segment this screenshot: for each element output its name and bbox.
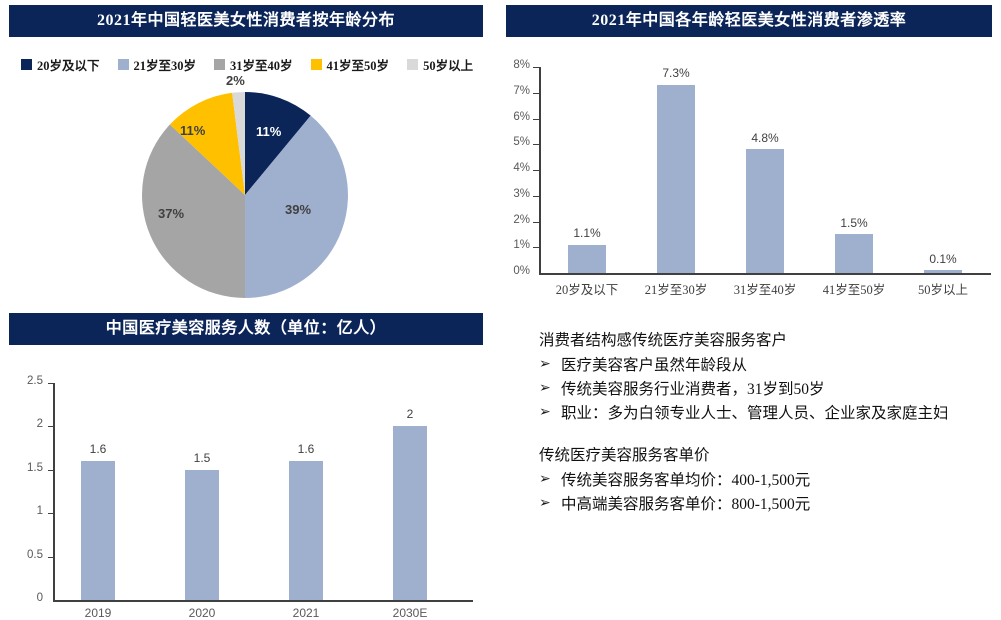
bar-2[interactable] bbox=[746, 149, 784, 273]
bar-0[interactable] bbox=[568, 245, 606, 273]
legend-label: 41岁至50岁 bbox=[327, 55, 390, 74]
y-tick bbox=[48, 470, 55, 471]
bar-value-label-2: 4.8% bbox=[735, 131, 795, 145]
bullet-text: 中高端美容服务客单价：800-1,500元 bbox=[561, 493, 969, 517]
y-tick bbox=[533, 67, 540, 68]
bullet-text: 职业：多为白领专业人士、管理人员、企业家及家庭主妇 bbox=[561, 402, 969, 426]
y-tick-label: 1% bbox=[500, 239, 530, 251]
legend-swatch-icon bbox=[118, 59, 129, 70]
bar-value-label-1: 1.5 bbox=[172, 451, 232, 465]
arrow-bullet-icon: ➢ bbox=[539, 378, 561, 400]
y-tick-label: 6% bbox=[500, 111, 530, 123]
y-tick bbox=[533, 222, 540, 223]
y-tick-label: 3% bbox=[500, 188, 530, 200]
page-title: 2021年中国各年龄轻医美女性消费者渗透率 bbox=[592, 13, 907, 29]
pie-svg bbox=[130, 90, 360, 300]
y-tick-label: 0.5 bbox=[9, 549, 43, 561]
people-bar-chart: 2.5 2 1.5 1 0.5 0 1.6 1.5 1.6 2 2019 202… bbox=[9, 353, 483, 613]
bar-value-label-4: 0.1% bbox=[913, 252, 973, 266]
y-tick bbox=[533, 93, 540, 94]
y-tick-label: 1 bbox=[9, 505, 43, 517]
bar-4[interactable] bbox=[924, 270, 962, 273]
y-tick-label: 8% bbox=[500, 59, 530, 71]
legend-label: 50岁以上 bbox=[423, 55, 473, 74]
bar-value-label-3: 1.5% bbox=[824, 216, 884, 230]
y-tick-label: 7% bbox=[500, 85, 530, 97]
bullet-text: 医疗美容客户虽然年龄段从 bbox=[561, 354, 969, 378]
legend-swatch-icon bbox=[407, 59, 418, 70]
notes-panel: 消费者结构感传统医疗美容服务客户 ➢ 医疗美容客户虽然年龄段从 ➢ 传统美容服务… bbox=[539, 329, 969, 517]
legend-label: 20岁及以下 bbox=[37, 55, 100, 74]
y-tick bbox=[48, 557, 55, 558]
y-axis bbox=[53, 383, 55, 600]
y-tick-label: 0 bbox=[9, 592, 43, 604]
notes-section2-heading: 传统医疗美容服务客单价 bbox=[539, 444, 969, 468]
page-title: 2021年中国轻医美女性消费者按年龄分布 bbox=[97, 13, 395, 29]
panel-age-distribution: 2021年中国轻医美女性消费者按年龄分布 20岁及以下 21岁至30岁 31岁至… bbox=[9, 5, 483, 297]
legend-swatch-icon bbox=[21, 59, 32, 70]
legend-item-2[interactable]: 31岁至40岁 bbox=[214, 55, 293, 74]
x-tick-label-3: 2030E bbox=[370, 606, 450, 620]
legend-swatch-icon bbox=[214, 59, 225, 70]
y-tick bbox=[533, 119, 540, 120]
pie-label-0: 11% bbox=[256, 124, 281, 139]
y-tick-label: 2.5 bbox=[9, 375, 43, 387]
panel-title-medical-beauty-people: 中国医疗美容服务人数（单位：亿人） bbox=[9, 313, 483, 345]
arrow-bullet-icon: ➢ bbox=[539, 469, 561, 491]
penetration-bar-chart: 8% 7% 6% 5% 4% 3% 2% 1% 0% 1.1% 7.3% 4.8… bbox=[506, 45, 992, 297]
x-tick-label-1: 21岁至30岁 bbox=[631, 279, 721, 298]
notes-section1-bullet-0: ➢ 医疗美容客户虽然年龄段从 bbox=[539, 354, 969, 378]
bar-value-label-0: 1.1% bbox=[557, 226, 617, 240]
x-tick-label-0: 2019 bbox=[58, 606, 138, 620]
bar-1[interactable] bbox=[657, 85, 695, 273]
bar-value-label-1: 7.3% bbox=[646, 66, 706, 80]
y-tick bbox=[48, 383, 55, 384]
x-tick-label-1: 2020 bbox=[162, 606, 242, 620]
pie-chart: 11% 39% 37% 11% 2% bbox=[130, 90, 360, 300]
bar-value-label-2: 1.6 bbox=[276, 442, 336, 456]
y-tick bbox=[533, 247, 540, 248]
notes-section2-bullet-0: ➢ 传统美容服务客单均价：400-1,500元 bbox=[539, 469, 969, 493]
x-tick-label-2: 2021 bbox=[266, 606, 346, 620]
arrow-bullet-icon: ➢ bbox=[539, 354, 561, 376]
y-tick bbox=[533, 170, 540, 171]
y-tick-label: 4% bbox=[500, 162, 530, 174]
x-tick-label-4: 50岁以上 bbox=[898, 279, 988, 298]
y-tick bbox=[48, 426, 55, 427]
y-tick bbox=[533, 144, 540, 145]
y-tick-label: 5% bbox=[500, 136, 530, 148]
notes-spacer bbox=[539, 426, 969, 444]
x-tick-label-2: 31岁至40岁 bbox=[720, 279, 810, 298]
notes-section1-bullet-1: ➢ 传统美容服务行业消费者，31岁到50岁 bbox=[539, 378, 969, 402]
y-tick-label: 2 bbox=[9, 418, 43, 430]
x-axis bbox=[539, 273, 991, 275]
bar-3[interactable] bbox=[835, 234, 873, 273]
y-tick-label: 1.5 bbox=[9, 462, 43, 474]
x-axis bbox=[53, 600, 473, 602]
bar-3[interactable] bbox=[393, 426, 427, 600]
arrow-bullet-icon: ➢ bbox=[539, 402, 561, 424]
panel-penetration-rate: 2021年中国各年龄轻医美女性消费者渗透率 8% 7% 6% 5% 4% 3% … bbox=[506, 5, 992, 297]
pie-label-3: 11% bbox=[180, 123, 205, 138]
pie-label-2: 37% bbox=[158, 206, 184, 221]
y-tick-label: 2% bbox=[500, 214, 530, 226]
panel-title-age-distribution: 2021年中国轻医美女性消费者按年龄分布 bbox=[9, 5, 483, 37]
page-title: 中国医疗美容服务人数（单位：亿人） bbox=[106, 321, 387, 337]
bar-2[interactable] bbox=[289, 461, 323, 600]
legend-label: 31岁至40岁 bbox=[230, 55, 293, 74]
pie-label-1: 39% bbox=[285, 202, 311, 217]
legend-item-4[interactable]: 50岁以上 bbox=[407, 55, 473, 74]
notes-section1-heading: 消费者结构感传统医疗美容服务客户 bbox=[539, 329, 969, 353]
legend-swatch-icon bbox=[311, 59, 322, 70]
bar-0[interactable] bbox=[81, 461, 115, 600]
x-tick-label-3: 41岁至50岁 bbox=[809, 279, 899, 298]
bar-value-label-3: 2 bbox=[380, 407, 440, 421]
notes-section1-bullet-2: ➢ 职业：多为白领专业人士、管理人员、企业家及家庭主妇 bbox=[539, 402, 969, 426]
notes-section2-bullet-1: ➢ 中高端美容服务客单价：800-1,500元 bbox=[539, 493, 969, 517]
legend-item-3[interactable]: 41岁至50岁 bbox=[311, 55, 390, 74]
bar-1[interactable] bbox=[185, 470, 219, 600]
legend-item-1[interactable]: 21岁至30岁 bbox=[118, 55, 197, 74]
pie-legend: 20岁及以下 21岁至30岁 31岁至40岁 41岁至50岁 50岁以上 bbox=[21, 55, 473, 74]
bullet-text: 传统美容服务客单均价：400-1,500元 bbox=[561, 469, 969, 493]
legend-label: 21岁至30岁 bbox=[134, 55, 197, 74]
y-tick bbox=[48, 513, 55, 514]
bullet-text: 传统美容服务行业消费者，31岁到50岁 bbox=[561, 378, 969, 402]
pie-label-4: 2% bbox=[226, 73, 245, 88]
y-tick bbox=[533, 196, 540, 197]
arrow-bullet-icon: ➢ bbox=[539, 493, 561, 515]
y-tick-label: 0% bbox=[500, 265, 530, 277]
panel-medical-beauty-people: 中国医疗美容服务人数（单位：亿人） 2.5 2 1.5 1 0.5 0 1.6 … bbox=[9, 313, 483, 613]
panel-title-penetration-rate: 2021年中国各年龄轻医美女性消费者渗透率 bbox=[506, 5, 992, 37]
bar-value-label-0: 1.6 bbox=[68, 442, 128, 456]
x-tick-label-0: 20岁及以下 bbox=[542, 279, 632, 298]
legend-item-0[interactable]: 20岁及以下 bbox=[21, 55, 100, 74]
